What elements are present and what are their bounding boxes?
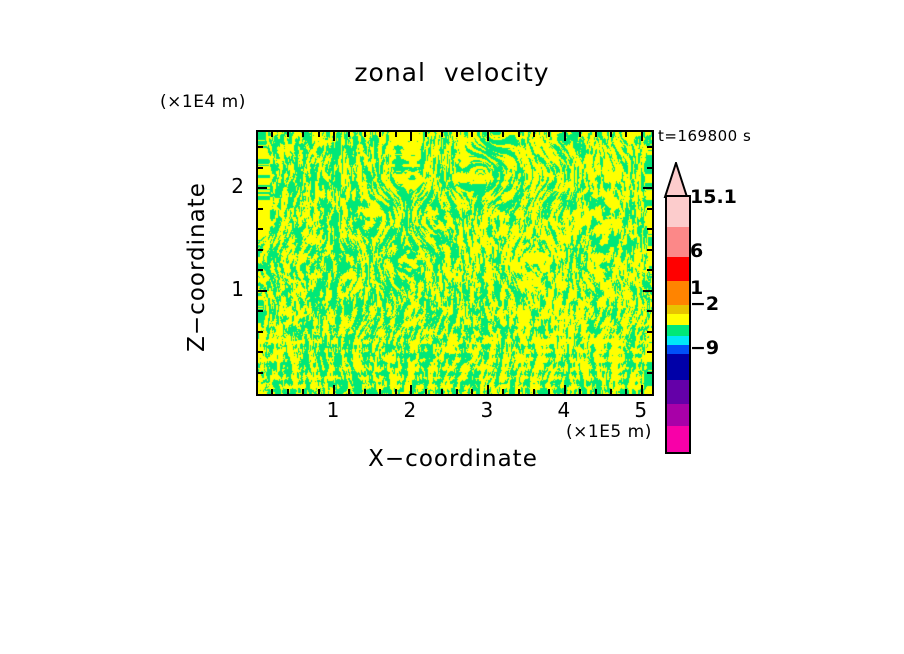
y-tick-left [258, 290, 267, 292]
y-tick-left [258, 310, 263, 312]
y-tick-right [647, 269, 652, 271]
colorbar-tick-label: 15.1 [690, 186, 737, 208]
x-tick-bottom [564, 385, 566, 394]
y-tick-right [647, 249, 652, 251]
x-tick-top [395, 132, 397, 137]
y-tick-left [258, 331, 263, 333]
colorbar-segment [667, 380, 689, 404]
x-tick-bottom [579, 389, 581, 394]
colorbar-segment [667, 404, 689, 426]
colorbar-segment [667, 197, 689, 227]
colorbar-segment [667, 345, 689, 354]
x-tick-bottom [302, 389, 304, 394]
y-tick-label: 1 [208, 277, 244, 301]
x-tick-bottom [410, 385, 412, 394]
x-tick-label: 3 [467, 398, 507, 422]
colorbar-segment [667, 227, 689, 257]
colorbar-arrow-cap [660, 162, 692, 198]
colorbar-segment [667, 314, 689, 325]
plot-area [256, 130, 654, 396]
colorbar-tick-label: −2 [690, 293, 719, 315]
colorbar-segment [667, 257, 689, 281]
y-tick-left [258, 351, 263, 353]
x-tick-bottom [641, 385, 643, 394]
velocity-field-heatmap [258, 132, 652, 394]
x-tick-top [487, 132, 489, 141]
x-tick-bottom [318, 389, 320, 394]
y-tick-right [647, 146, 652, 148]
x-tick-bottom [333, 385, 335, 394]
x-tick-bottom [502, 389, 504, 394]
x-tick-label: 4 [544, 398, 584, 422]
x-tick-top [318, 132, 320, 137]
y-tick-right [647, 228, 652, 230]
x-tick-bottom [425, 389, 427, 394]
colorbar-segments [665, 195, 691, 454]
x-tick-bottom [548, 389, 550, 394]
colorbar-tick-label: 6 [690, 240, 703, 262]
y-tick-left [258, 372, 263, 374]
x-tick-bottom [471, 389, 473, 394]
x-tick-top [441, 132, 443, 137]
x-tick-top [641, 132, 643, 141]
x-tick-bottom [610, 389, 612, 394]
x-tick-label: 2 [390, 398, 430, 422]
colorbar-segment [667, 325, 689, 336]
x-tick-top [564, 132, 566, 141]
y-tick-left [258, 269, 263, 271]
x-tick-top [410, 132, 412, 141]
x-tick-top [625, 132, 627, 137]
colorbar-tick-label: −9 [690, 337, 719, 359]
zonal-velocity-plot: zonal velocity (×1E4 m) t=169800 s 12345… [0, 0, 904, 654]
colorbar-segment [667, 281, 689, 305]
x-tick-top [456, 132, 458, 137]
x-tick-bottom [441, 389, 443, 394]
x-tick-top [548, 132, 550, 137]
x-tick-top [425, 132, 427, 137]
x-tick-top [271, 132, 273, 137]
x-tick-top [333, 132, 335, 141]
x-tick-bottom [395, 389, 397, 394]
x-tick-bottom [533, 389, 535, 394]
x-tick-top [533, 132, 535, 137]
time-stamp-label: t=169800 s [658, 127, 751, 145]
colorbar-segment [667, 305, 689, 314]
page-title: zonal velocity [0, 58, 904, 87]
y-tick-left [258, 187, 267, 189]
x-axis-title: X−coordinate [256, 446, 650, 472]
x-tick-label: 5 [621, 398, 661, 422]
x-tick-top [379, 132, 381, 137]
x-tick-top [287, 132, 289, 137]
y-tick-left [258, 228, 263, 230]
x-tick-bottom [271, 389, 273, 394]
y-tick-right [643, 290, 652, 292]
x-tick-bottom [625, 389, 627, 394]
y-tick-left [258, 249, 263, 251]
x-tick-bottom [364, 389, 366, 394]
y-axis-title: Z−coordinate [184, 67, 210, 467]
x-tick-bottom [487, 385, 489, 394]
y-tick-label: 2 [208, 174, 244, 198]
x-tick-top [518, 132, 520, 137]
y-tick-left [258, 146, 263, 148]
y-tick-right [643, 187, 652, 189]
x-tick-bottom [456, 389, 458, 394]
x-tick-top [502, 132, 504, 137]
x-tick-top [610, 132, 612, 137]
x-tick-bottom [287, 389, 289, 394]
colorbar-segment [667, 426, 689, 452]
y-tick-right [647, 167, 652, 169]
y-tick-right [647, 331, 652, 333]
y-tick-right [647, 372, 652, 374]
x-tick-bottom [379, 389, 381, 394]
y-tick-left [258, 208, 263, 210]
x-tick-bottom [348, 389, 350, 394]
x-tick-top [364, 132, 366, 137]
y-tick-right [647, 208, 652, 210]
x-tick-top [348, 132, 350, 137]
x-tick-top [579, 132, 581, 137]
y-tick-right [647, 351, 652, 353]
y-tick-right [647, 310, 652, 312]
x-axis-multiplier-label: (×1E5 m) [566, 422, 652, 442]
x-tick-top [302, 132, 304, 137]
y-tick-left [258, 167, 263, 169]
x-tick-bottom [518, 389, 520, 394]
colorbar-segment [667, 336, 689, 345]
x-tick-bottom [595, 389, 597, 394]
x-tick-top [595, 132, 597, 137]
x-tick-label: 1 [313, 398, 353, 422]
x-tick-top [471, 132, 473, 137]
colorbar-segment [667, 354, 689, 380]
